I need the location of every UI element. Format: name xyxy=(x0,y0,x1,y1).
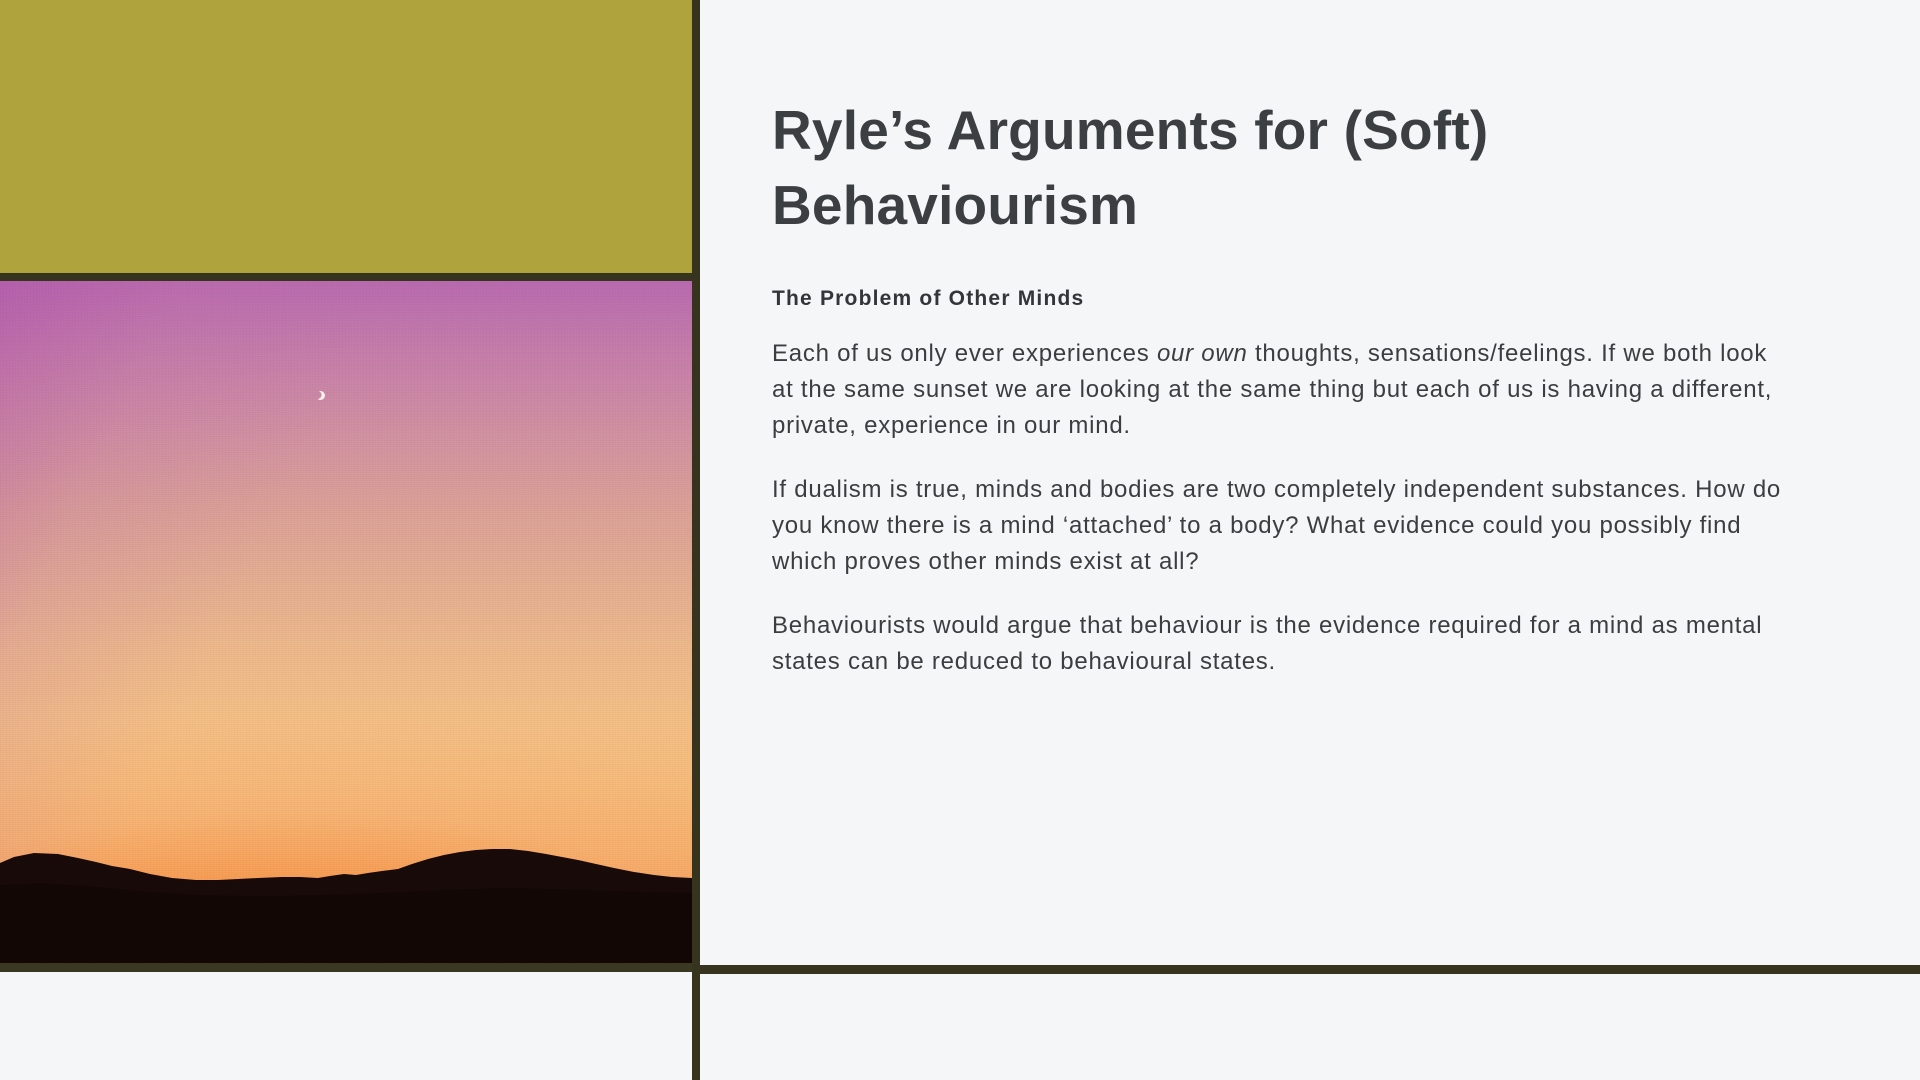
olive-color-block xyxy=(0,0,692,273)
divider-above-photo xyxy=(0,273,692,281)
divider-vertical xyxy=(692,0,700,1080)
slide-canvas: Ryle’s Arguments for (Soft) Behaviourism… xyxy=(0,0,1920,1080)
body-text-run: If dualism is true, minds and bodies are… xyxy=(772,476,1781,575)
page-title: Ryle’s Arguments for (Soft) Behaviourism xyxy=(772,0,1702,243)
body-paragraph-2: If dualism is true, minds and bodies are… xyxy=(772,444,1792,580)
section-subheading: The Problem of Other Minds xyxy=(772,243,1832,311)
body-paragraph-1: Each of us only ever experiences our own… xyxy=(772,311,1792,444)
hill-silhouette xyxy=(0,833,692,963)
body-text-run: Behaviourists would argue that behaviour… xyxy=(772,612,1762,675)
divider-bottom-right xyxy=(700,965,1920,974)
divider-below-photo xyxy=(0,963,692,972)
body-text-run: Each of us only ever experiences xyxy=(772,340,1157,367)
sunset-landscape-photo xyxy=(0,281,692,963)
body-paragraph-3: Behaviourists would argue that behaviour… xyxy=(772,580,1792,680)
emphasis-text: our own xyxy=(1157,340,1248,367)
left-media-column xyxy=(0,0,692,963)
text-content-column: Ryle’s Arguments for (Soft) Behaviourism… xyxy=(772,0,1832,965)
